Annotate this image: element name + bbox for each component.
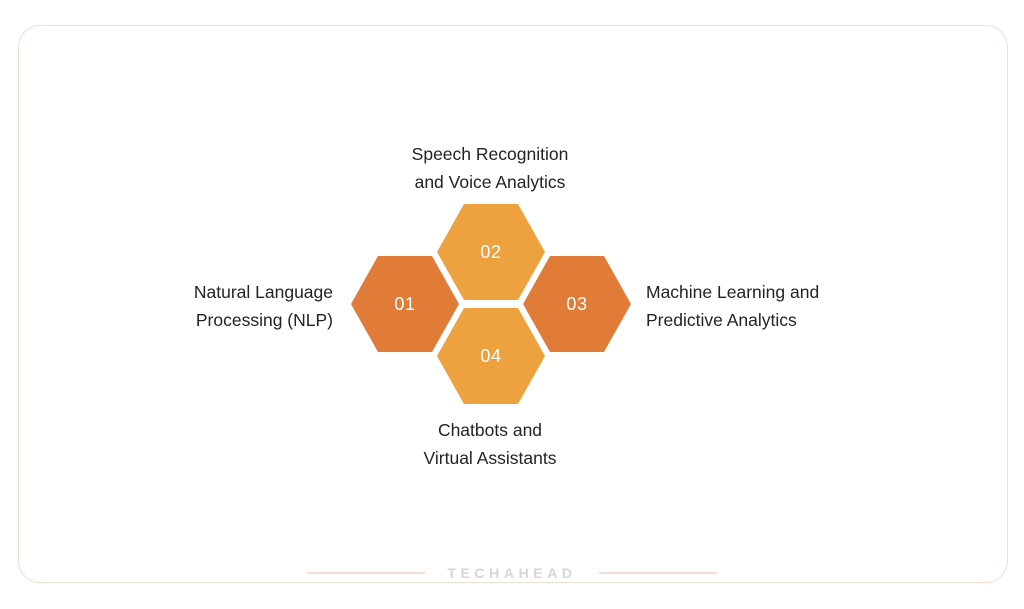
label-chatbots: Chatbots and Virtual Assistants bbox=[340, 416, 640, 473]
footer-rule-right bbox=[599, 572, 717, 573]
brand-wordmark: TECHAHEAD bbox=[447, 566, 576, 580]
hexagon-number-03: 03 bbox=[566, 295, 587, 313]
label-speech-recognition: Speech Recognition and Voice Analytics bbox=[340, 140, 640, 197]
hexagon-node-03[interactable]: 03 bbox=[523, 256, 631, 352]
footer-brand: TECHAHEAD bbox=[0, 566, 1024, 580]
infographic-stage: 01 02 03 04 Speech Recognition and Voice… bbox=[0, 0, 1024, 609]
hexagon-node-04[interactable]: 04 bbox=[437, 308, 545, 404]
hexagon-number-01: 01 bbox=[394, 295, 415, 313]
label-machine-learning: Machine Learning and Predictive Analytic… bbox=[646, 278, 936, 335]
hexagon-node-02[interactable]: 02 bbox=[437, 204, 545, 300]
hexagon-node-01[interactable]: 01 bbox=[351, 256, 459, 352]
label-natural-language-processing: Natural Language Processing (NLP) bbox=[86, 278, 333, 335]
hexagon-number-04: 04 bbox=[480, 347, 501, 365]
hexagon-number-02: 02 bbox=[480, 243, 501, 261]
footer-rule-left bbox=[307, 572, 425, 573]
